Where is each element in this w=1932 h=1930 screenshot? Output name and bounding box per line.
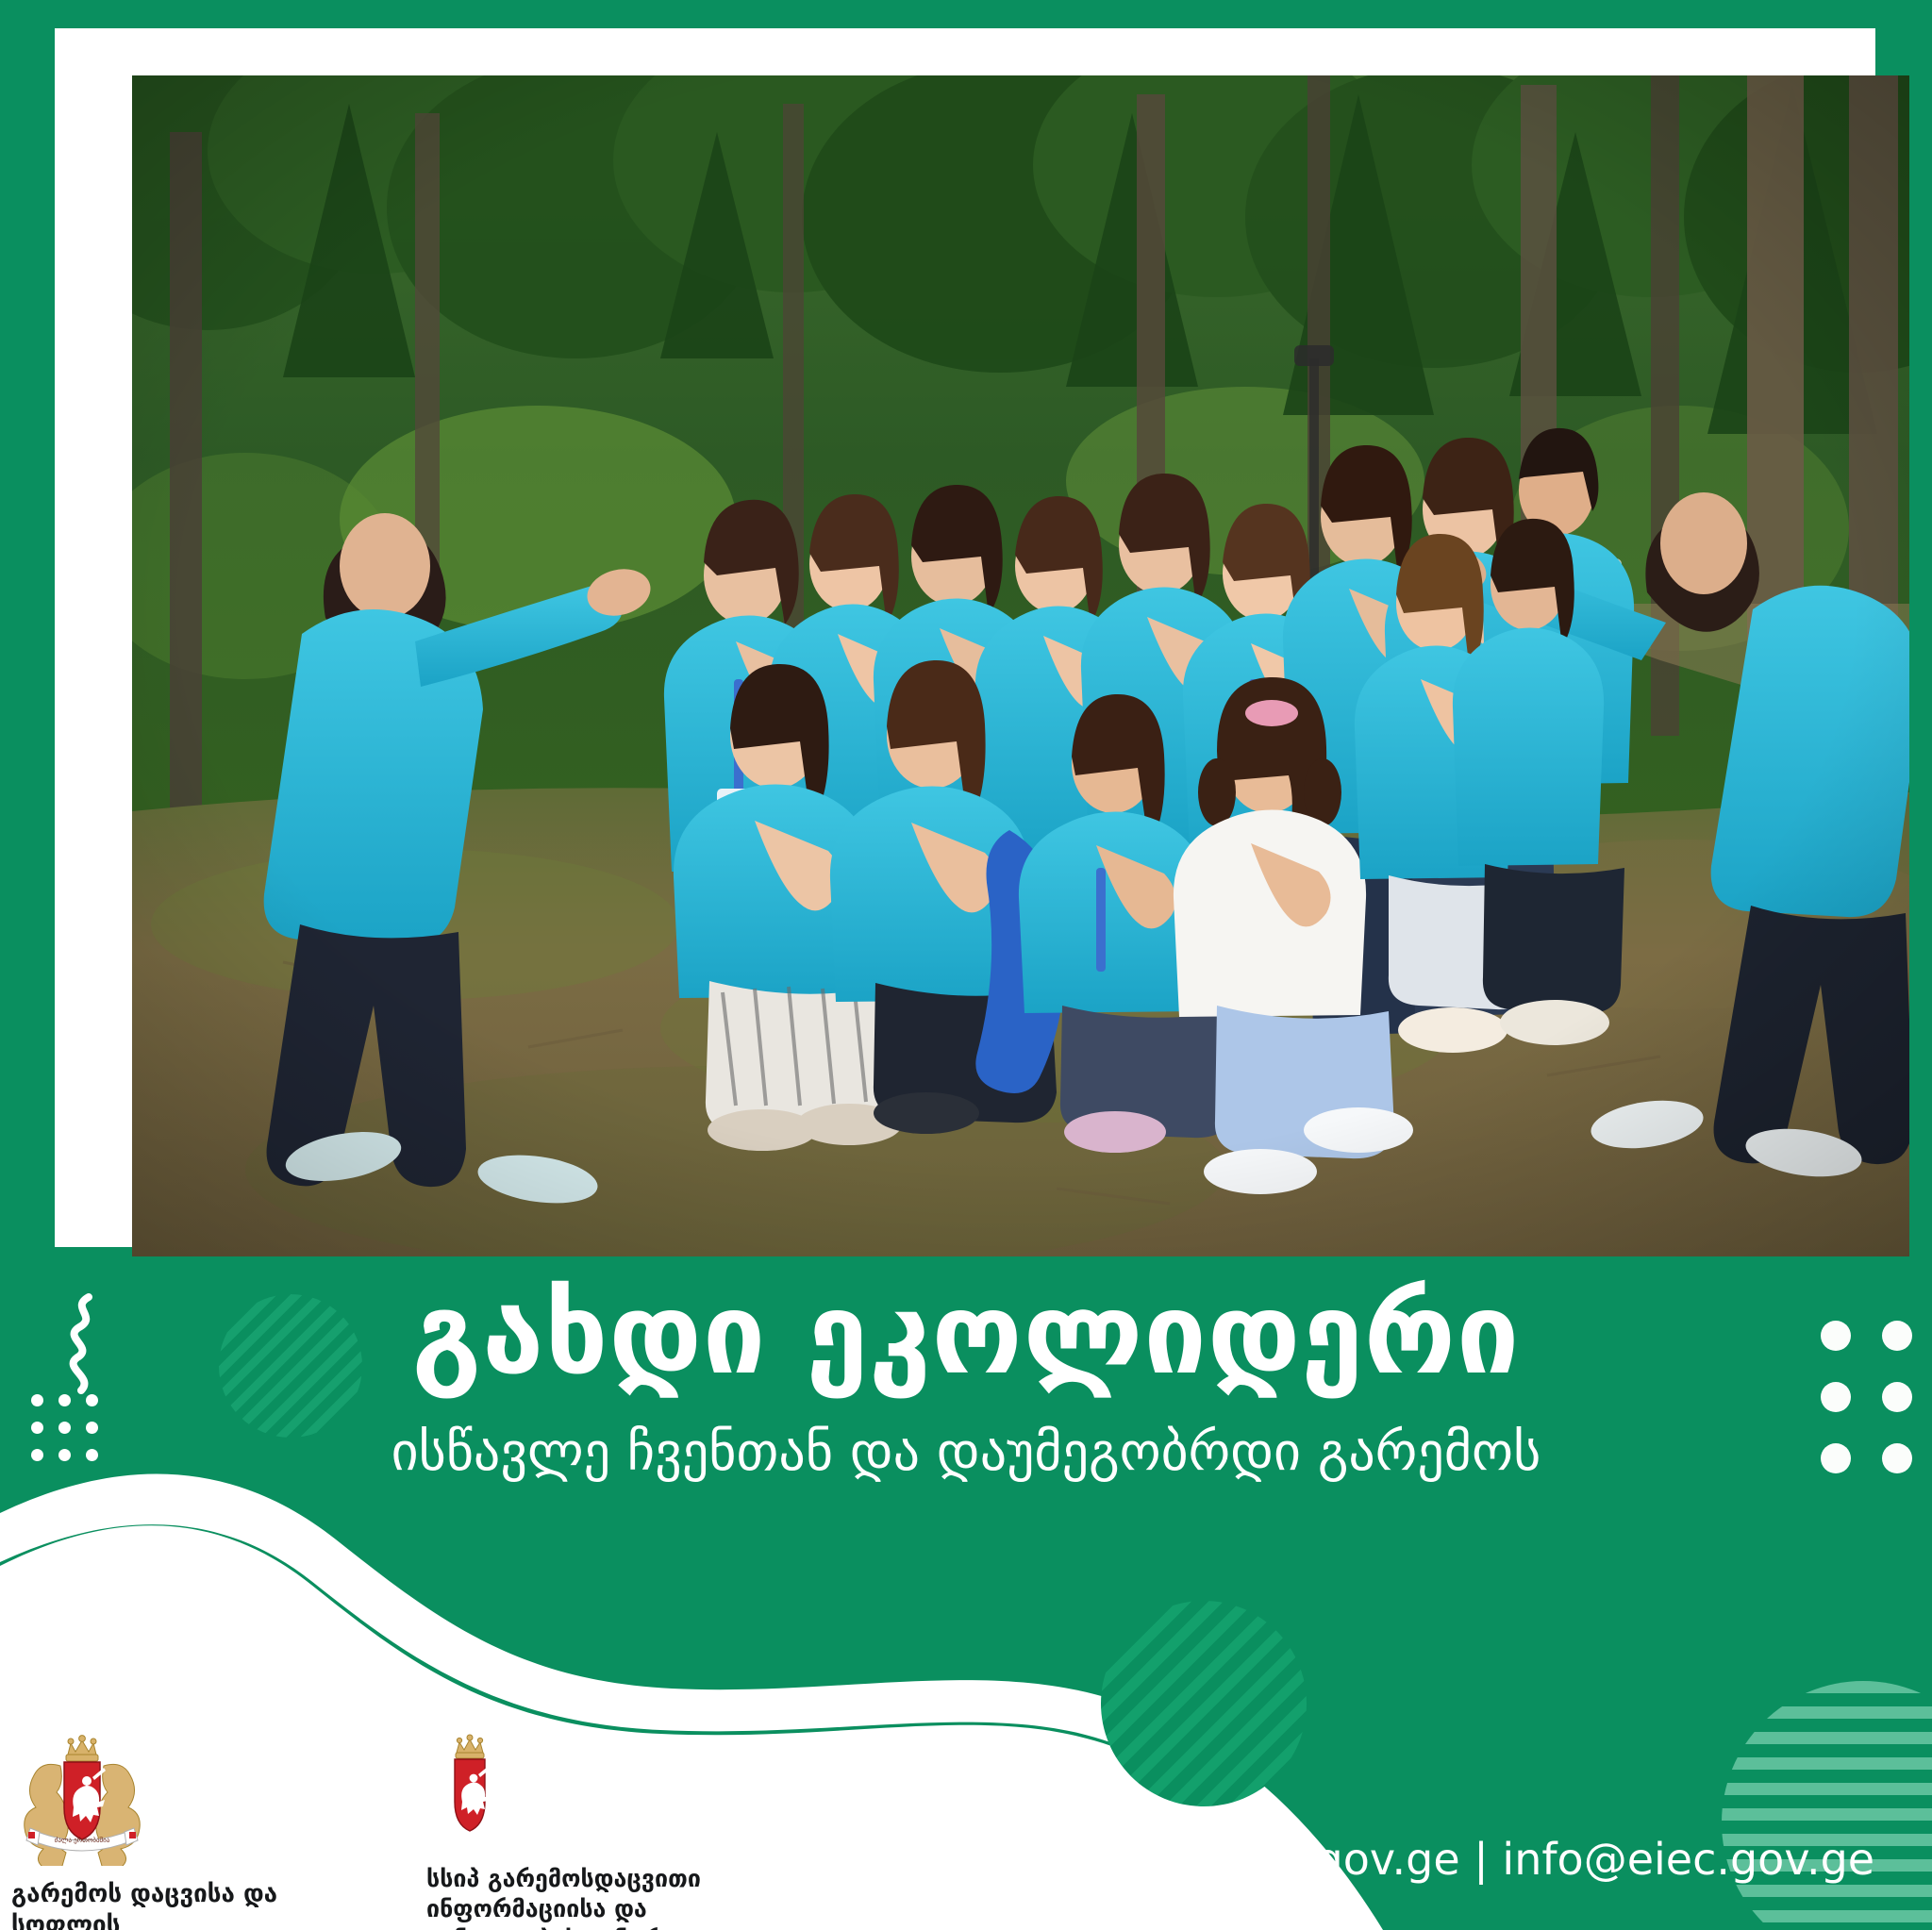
group-photo	[132, 75, 1909, 1256]
logo-ministry: ძალა ერთობაშია გარემოს დაცვისა და სოფლის…	[11, 1734, 389, 1930]
striped-circle-right-icon	[1722, 1681, 1932, 1930]
footer-contact[interactable]: www.eiec.gov.ge | info@eiec.gov.ge	[1096, 1834, 1874, 1885]
title-block: გახდი ეკოლიდერი ისწავლე ჩვენთან და დაუმე…	[0, 1278, 1932, 1482]
logo-center: სსიპ გარემოსდაცვითი ინფორმაციისა და განა…	[426, 1734, 766, 1930]
page-title: გახდი ეკოლიდერი	[0, 1278, 1932, 1389]
georgia-shield-crest-icon	[426, 1734, 513, 1847]
svg-text:ძალა ერთობაშია: ძალა ერთობაშია	[55, 1836, 110, 1844]
striped-circle-mid-icon	[1101, 1601, 1307, 1806]
georgia-coat-of-arms-icon: ძალა ერთობაშია	[11, 1734, 153, 1866]
photo-frame	[55, 28, 1875, 1247]
page-subtitle: ისწავლე ჩვენთან და დაუმეგობრდი გარემოს	[0, 1423, 1932, 1482]
logo-center-label: სსიპ გარემოსდაცვითი ინფორმაციისა და განა…	[426, 1864, 701, 1930]
partner-logos: ძალა ერთობაშია გარემოს დაცვისა და სოფლის…	[0, 1734, 766, 1930]
logo-ministry-label: გარემოს დაცვისა და სოფლის მეურნეობის სამ…	[11, 1879, 389, 1930]
poster-canvas: გახდი ეკოლიდერი ისწავლე ჩვენთან და დაუმე…	[0, 0, 1932, 1930]
